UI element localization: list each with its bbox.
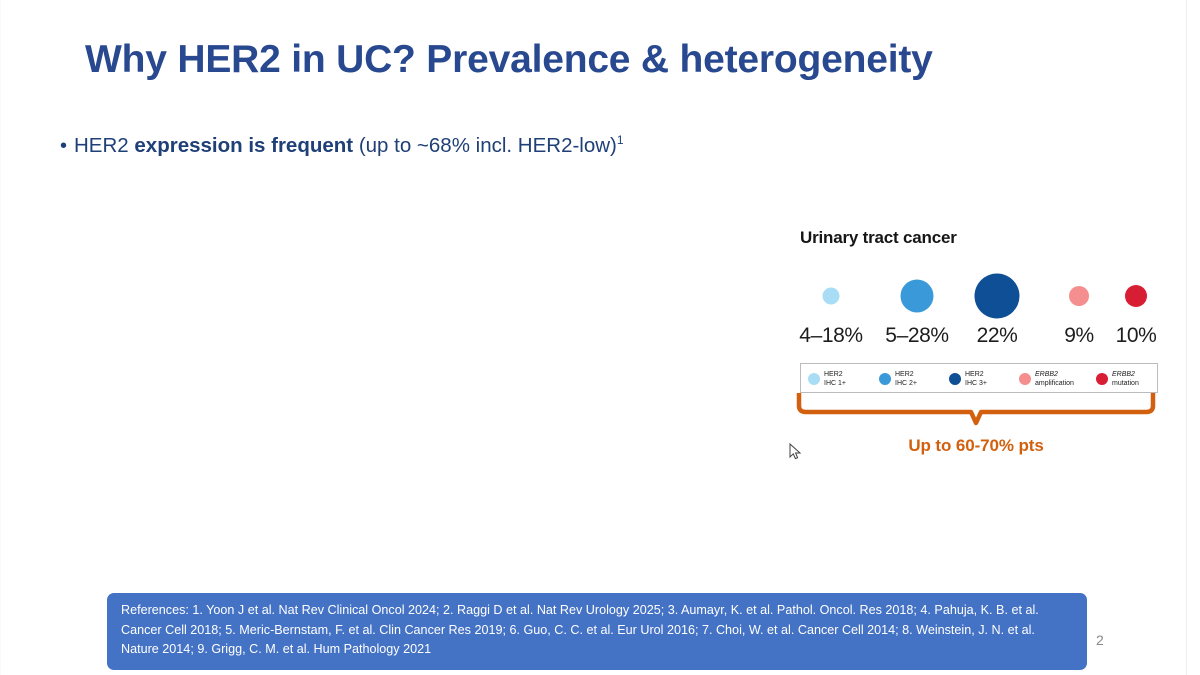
legend-item-her2-ihc-1: HER2 IHC 1+ xyxy=(808,368,846,390)
bubble-cell-her2-ihc-3 xyxy=(961,268,1033,324)
bubble-row xyxy=(795,268,1165,324)
value-label-her2-ihc-1: 4–18% xyxy=(795,324,867,348)
legend-label-her2-ihc-3: HER2 IHC 3+ xyxy=(965,370,987,388)
references-box: References: 1. Yoon J et al. Nat Rev Cli… xyxy=(107,593,1087,670)
legend-label-line2: amplification xyxy=(1035,380,1074,387)
slide-right-edge xyxy=(1186,0,1187,675)
bullet-text: HER2 expression is frequent (up to ~68% … xyxy=(74,133,624,160)
legend-label-line2: mutation xyxy=(1112,380,1139,387)
bubble-cell-erbb2-mutation xyxy=(1100,268,1172,324)
legend-label-her2-ihc-2: HER2 IHC 2+ xyxy=(895,370,917,388)
bullet-text-bold: expression is frequent xyxy=(134,134,353,157)
bubble-marker-her2-ihc-3 xyxy=(975,274,1020,319)
legend-label-line1: HER2 xyxy=(824,371,843,378)
mouse-cursor-icon xyxy=(789,443,803,461)
bubble-cell-her2-ihc-2 xyxy=(881,268,953,324)
value-label-her2-ihc-2: 5–28% xyxy=(881,324,953,348)
figure-title: Urinary tract cancer xyxy=(800,228,957,248)
slide-left-edge xyxy=(0,0,1,675)
summary-bracket xyxy=(795,392,1157,438)
bullet-marker-icon: • xyxy=(60,133,74,159)
legend-label-line1: ERBB2 xyxy=(1112,371,1135,378)
page-title: Why HER2 in UC? Prevalence & heterogenei… xyxy=(85,38,1115,83)
bracket-icon xyxy=(795,392,1157,438)
legend-item-erbb2-amplification: ERBB2 amplification xyxy=(1019,368,1074,390)
slide-number: 2 xyxy=(1096,632,1104,648)
legend-label-line1: HER2 xyxy=(965,371,984,378)
bullet-text-tail: (up to ~68% incl. HER2-low) xyxy=(353,134,617,157)
legend-label-line1: HER2 xyxy=(895,371,914,378)
prevalence-figure: Urinary tract cancer 4–18% 5–28% 22% xyxy=(795,228,1165,468)
legend-dot-erbb2-mutation xyxy=(1096,373,1108,385)
legend-dot-her2-ihc-2 xyxy=(879,373,891,385)
legend-item-her2-ihc-2: HER2 IHC 2+ xyxy=(879,368,917,390)
bubble-marker-erbb2-amplification xyxy=(1069,286,1089,306)
legend-dot-erbb2-amplification xyxy=(1019,373,1031,385)
legend-label-line2: IHC 3+ xyxy=(965,380,987,387)
bubble-marker-her2-ihc-2 xyxy=(901,280,934,313)
legend-label-line1: ERBB2 xyxy=(1035,371,1058,378)
bubble-marker-erbb2-mutation xyxy=(1125,285,1147,307)
legend-label-her2-ihc-1: HER2 IHC 1+ xyxy=(824,370,846,388)
bubble-cell-her2-ihc-1 xyxy=(795,268,867,324)
value-label-erbb2-mutation: 10% xyxy=(1100,324,1172,348)
bubble-marker-her2-ihc-1 xyxy=(823,288,840,305)
legend-label-line2: IHC 1+ xyxy=(824,380,846,387)
legend-dot-her2-ihc-1 xyxy=(808,373,820,385)
bullet-text-lead: HER2 xyxy=(74,134,134,157)
legend-item-her2-ihc-3: HER2 IHC 3+ xyxy=(949,368,987,390)
bubble-value-labels: 4–18% 5–28% 22% 9% 10% xyxy=(795,324,1165,356)
bullet-superscript: 1 xyxy=(617,133,624,147)
value-label-her2-ihc-3: 22% xyxy=(961,324,1033,348)
figure-legend: HER2 IHC 1+ HER2 IHC 2+ HER2 IHC 3+ xyxy=(800,363,1158,393)
bracket-caption: Up to 60-70% pts xyxy=(795,436,1157,456)
bullet-item: • HER2 expression is frequent (up to ~68… xyxy=(60,133,624,160)
legend-label-line2: IHC 2+ xyxy=(895,380,917,387)
legend-label-erbb2-mutation: ERBB2 mutation xyxy=(1112,370,1139,388)
slide-canvas: Why HER2 in UC? Prevalence & heterogenei… xyxy=(0,0,1200,675)
legend-item-erbb2-mutation: ERBB2 mutation xyxy=(1096,368,1139,390)
legend-label-erbb2-amplification: ERBB2 amplification xyxy=(1035,370,1074,388)
legend-dot-her2-ihc-3 xyxy=(949,373,961,385)
